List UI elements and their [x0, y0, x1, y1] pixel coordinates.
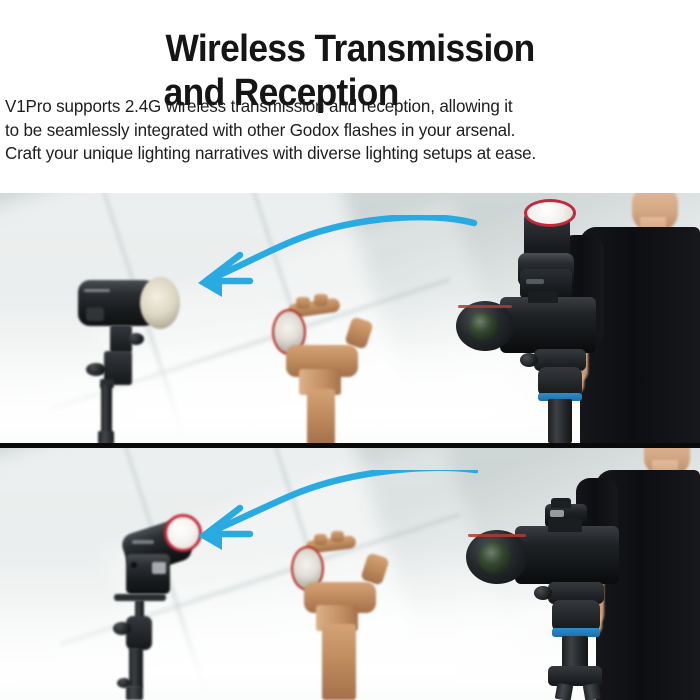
product-feature-page: Wireless Transmission and Reception V1Pr…: [0, 0, 700, 700]
description-line-3: Craft your unique lighting narratives wi…: [5, 142, 687, 166]
page-title-line-1: Wireless Transmission: [25, 27, 676, 71]
photo-panel-top: [0, 193, 700, 448]
description-line-2: to be seamlessly integrated with other G…: [5, 119, 687, 143]
description-paragraph: V1Pro supports 2.4G wireless transmissio…: [5, 95, 687, 166]
photo-panel-bottom: [0, 448, 700, 700]
description-line-1: V1Pro supports 2.4G wireless transmissio…: [5, 95, 687, 119]
studio-scene-top: [0, 193, 700, 443]
studio-scene-bottom: [0, 448, 700, 700]
